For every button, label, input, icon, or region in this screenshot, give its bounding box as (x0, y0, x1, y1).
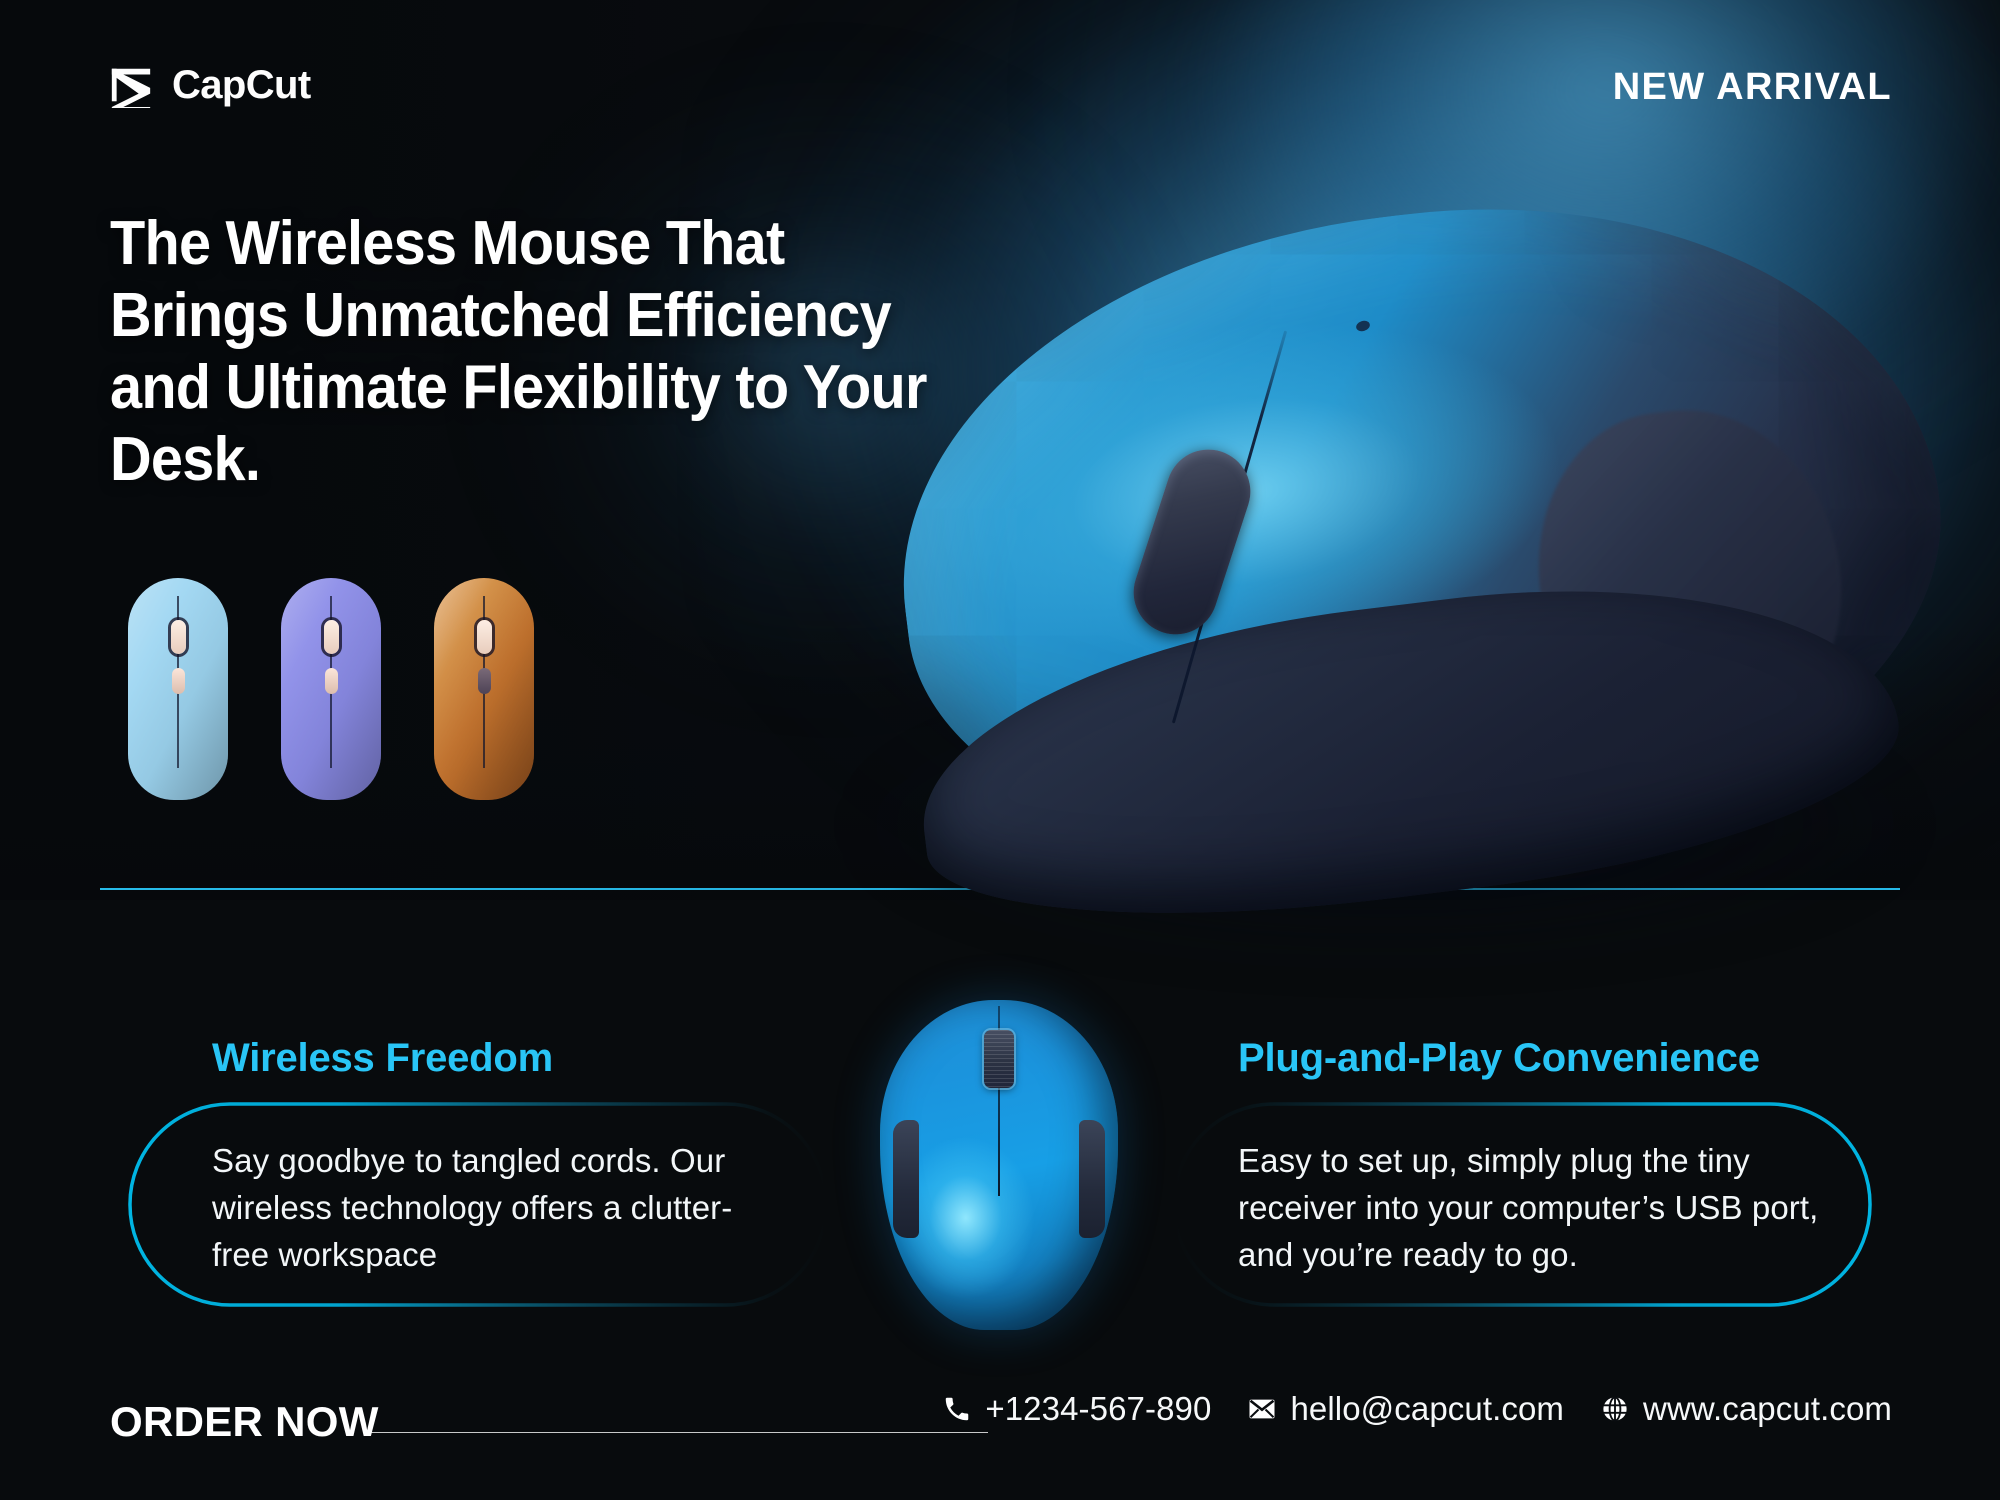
swatch-scroll-wheel (477, 620, 492, 654)
swatch-button (325, 668, 338, 694)
contact-email[interactable]: hello@capcut.com (1247, 1390, 1564, 1428)
brand-name: CapCut (172, 65, 311, 105)
color-swatch-light-blue[interactable] (128, 578, 228, 800)
poster-canvas: CapCut NEW ARRIVAL The Wireless Mouse Th… (0, 0, 2000, 1500)
footer-bar: ORDER NOW +1234-567-890 hello@capcut.com (0, 1390, 2000, 1500)
center-mouse-grip-left (893, 1120, 919, 1238)
swatch-scroll-wheel (171, 620, 186, 654)
swatch-button (478, 668, 491, 694)
globe-icon (1600, 1394, 1630, 1424)
brand-logo[interactable]: CapCut (108, 62, 311, 108)
contact-website[interactable]: www.capcut.com (1600, 1390, 1892, 1428)
feature-title-plug-and-play: Plug-and-Play Convenience (1238, 1038, 1760, 1078)
swatch-scroll-wheel (324, 620, 339, 654)
contact-phone[interactable]: +1234-567-890 (942, 1390, 1211, 1428)
page-title: The Wireless Mouse That Brings Unmatched… (110, 208, 947, 496)
center-mouse-scroll-wheel (984, 1030, 1014, 1088)
contact-phone-text: +1234-567-890 (985, 1390, 1211, 1428)
feature-body-wireless-freedom: Say goodbye to tangled cords. Our wirele… (212, 1138, 772, 1279)
envelope-icon (1247, 1394, 1277, 1424)
center-mouse-grip-right (1079, 1120, 1105, 1238)
center-product-image (880, 1000, 1118, 1330)
new-arrival-badge: NEW ARRIVAL (1613, 68, 1892, 106)
contact-group: +1234-567-890 hello@capcut.com (942, 1390, 1892, 1428)
contact-email-text: hello@capcut.com (1290, 1390, 1564, 1428)
swatch-button (172, 668, 185, 694)
order-now-cta[interactable]: ORDER NOW (110, 1398, 379, 1446)
order-now-rule (368, 1432, 988, 1433)
capcut-bowtie-icon (108, 62, 154, 108)
feature-title-wireless-freedom: Wireless Freedom (212, 1038, 553, 1078)
feature-body-plug-and-play: Easy to set up, simply plug the tiny rec… (1238, 1138, 1858, 1279)
hero-product-image (840, 175, 2000, 915)
color-swatch-group[interactable] (128, 578, 534, 800)
color-swatch-periwinkle[interactable] (281, 578, 381, 800)
phone-icon (942, 1394, 972, 1424)
contact-website-text: www.capcut.com (1643, 1390, 1892, 1428)
color-swatch-copper[interactable] (434, 578, 534, 800)
